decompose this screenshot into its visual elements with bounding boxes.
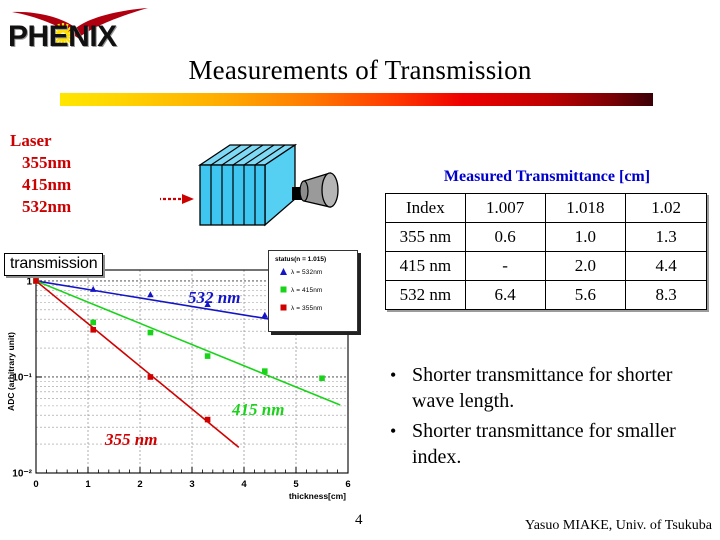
- data-point: [205, 353, 211, 359]
- series-label-415: 415 nm: [232, 400, 284, 420]
- detector-back: [300, 181, 308, 201]
- apparatus-diagram: [160, 143, 340, 235]
- table-header-cell-index: Index: [386, 194, 466, 223]
- author-footer: Yasuo MIAKE, Univ. of Tsukuba: [525, 518, 712, 534]
- y-tick-label: 10⁻²: [12, 469, 32, 480]
- table-cell-415-1007: -: [465, 252, 545, 281]
- x-tick-label: 2: [137, 479, 142, 490]
- chart-title-box: transmission: [4, 253, 103, 276]
- transmittance-table: Index 1.007 1.018 1.02 355 nm 0.6 1.0 1.…: [385, 193, 707, 310]
- table-title: Measured Transmittance [cm]: [382, 168, 712, 186]
- table-cell-355-1018: 1.0: [545, 223, 626, 252]
- bullet-marker-icon: •: [390, 362, 412, 414]
- series-label-532: 532 nm: [188, 288, 240, 308]
- legend-item-532: λ = 532nm: [279, 267, 357, 278]
- table-cell-532-102: 8.3: [626, 281, 707, 310]
- table-row: 532 nm 6.4 5.6 8.3: [386, 281, 707, 310]
- table-row-label-355: 355 nm: [386, 223, 466, 252]
- table-cell-355-102: 1.3: [626, 223, 707, 252]
- legend-label-532: λ = 532nm: [291, 269, 322, 276]
- legend-label-415: λ = 415nm: [291, 287, 322, 294]
- table-header-row: Index 1.007 1.018 1.02: [386, 194, 707, 223]
- table-cell-532-1007: 6.4: [465, 281, 545, 310]
- y-tick-label: 1: [26, 276, 32, 287]
- table-cell-355-1007: 0.6: [465, 223, 545, 252]
- data-point: [33, 278, 39, 284]
- table-cell-532-1018: 5.6: [545, 281, 626, 310]
- x-tick-label: 4: [241, 479, 247, 490]
- laser-heading: Laser: [10, 130, 71, 152]
- x-tick-label: 3: [189, 479, 194, 490]
- list-item: • Shorter transmittance for shorter wave…: [390, 362, 710, 414]
- phenix-logo: PHENIX: [8, 4, 160, 58]
- y-axis-title: ADC (arbitrary unit): [6, 332, 16, 411]
- laser-beam-arrow-icon: [160, 194, 194, 204]
- laser-label-group: Laser 355nm 415nm 532nm: [10, 130, 71, 218]
- laser-wavelength-415: 415nm: [22, 174, 71, 196]
- table-row: 355 nm 0.6 1.0 1.3: [386, 223, 707, 252]
- detector-cap: [322, 173, 338, 207]
- legend-marker-triangle-icon: [279, 267, 291, 278]
- transmittance-table-wrapper: Index 1.007 1.018 1.02 355 nm 0.6 1.0 1.…: [385, 193, 707, 310]
- table-row-label-415: 415 nm: [386, 252, 466, 281]
- x-axis-title: thickness[cm]: [289, 491, 346, 501]
- data-point: [90, 327, 96, 333]
- data-point: [262, 368, 268, 374]
- page-number: 4: [355, 512, 363, 529]
- title-gradient-rule: [60, 93, 653, 106]
- table-header-cell-1018: 1.018: [545, 194, 626, 223]
- table-cell-415-102: 4.4: [626, 252, 707, 281]
- data-point: [148, 374, 154, 380]
- data-point: [205, 417, 211, 423]
- data-point: [319, 375, 325, 381]
- bullet-text-1: Shorter transmittance for shorter wave l…: [412, 362, 710, 414]
- page-title: Measurements of Transmission: [0, 55, 720, 86]
- legend-title: status(n = 1.015): [275, 256, 357, 263]
- table-header-cell-1007: 1.007: [465, 194, 545, 223]
- legend-item-415: λ = 415nm: [279, 285, 357, 296]
- series-label-355: 355 nm: [105, 430, 157, 450]
- x-tick-label: 1: [85, 479, 91, 490]
- bullet-text-2: Shorter transmittance for smaller index.: [412, 418, 710, 470]
- legend-marker-square-red-icon: [279, 303, 291, 314]
- list-item: • Shorter transmittance for smaller inde…: [390, 418, 710, 470]
- legend-marker-square-icon: [279, 285, 291, 296]
- legend-label-355: λ = 355nm: [291, 305, 322, 312]
- x-tick-label: 5: [293, 479, 299, 490]
- laser-wavelength-355: 355nm: [22, 152, 71, 174]
- table-row-label-532: 532 nm: [386, 281, 466, 310]
- bullet-marker-icon: •: [390, 418, 412, 470]
- table-row: 415 nm - 2.0 4.4: [386, 252, 707, 281]
- x-tick-label: 0: [33, 479, 38, 490]
- data-point: [148, 330, 154, 336]
- x-tick-label: 6: [345, 479, 350, 490]
- table-header-cell-102: 1.02: [626, 194, 707, 223]
- chart-legend: status(n = 1.015) λ = 532nm λ = 415nm λ …: [268, 250, 358, 332]
- legend-item-355: λ = 355nm: [279, 303, 357, 314]
- laser-wavelength-532: 532nm: [22, 196, 71, 218]
- data-point: [90, 320, 96, 326]
- bullet-list: • Shorter transmittance for shorter wave…: [390, 362, 710, 474]
- phenix-logo-text: PHENIX: [8, 20, 160, 54]
- table-cell-415-1018: 2.0: [545, 252, 626, 281]
